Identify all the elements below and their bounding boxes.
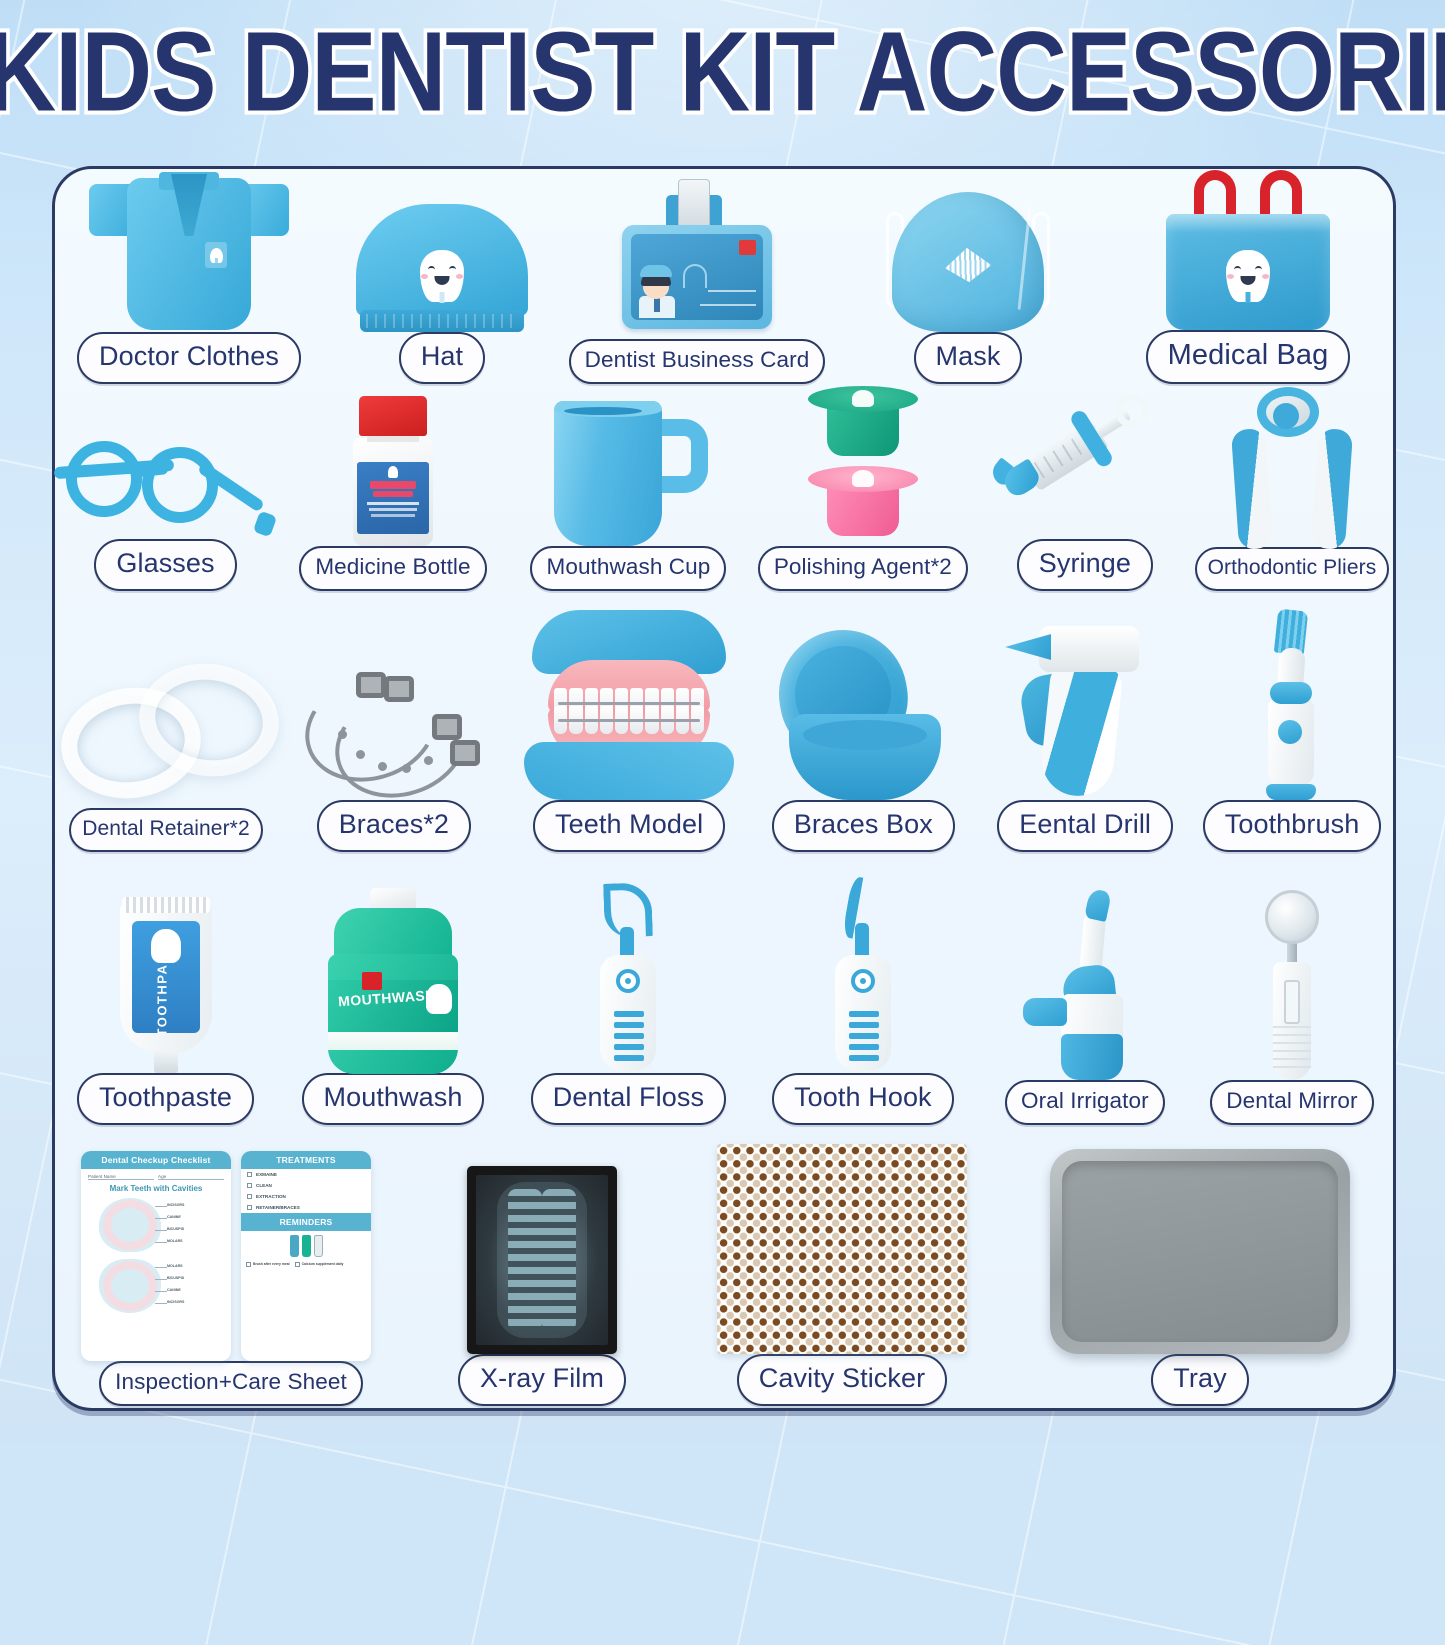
tooth-hook-art xyxy=(747,852,979,1073)
label-tooth-hook: Tooth Hook xyxy=(772,1073,954,1125)
accessory-item-xray-film[interactable]: X-ray Film xyxy=(407,1125,677,1406)
accessory-item-dental-retainer[interactable]: Dental Retainer*2 xyxy=(55,591,277,852)
tooth-hook-icon xyxy=(821,883,905,1073)
medicine-bottle-icon xyxy=(349,396,437,546)
label-dental-mirror: Dental Mirror xyxy=(1210,1080,1373,1126)
label-cavity-sticker: Cavity Sticker xyxy=(737,1354,947,1406)
business-card-art xyxy=(561,171,833,339)
label-tray: Tray xyxy=(1151,1354,1248,1406)
accessory-item-polishing-agent[interactable]: Polishing Agent*2 xyxy=(747,384,979,591)
label-toothpaste: Toothpaste xyxy=(77,1073,254,1125)
label-polishing-agent: Polishing Agent*2 xyxy=(758,546,968,592)
accessory-item-dental-drill[interactable]: Eental Drill xyxy=(979,591,1191,852)
accessory-item-braces[interactable]: Braces*2 xyxy=(277,591,511,852)
checklist-subtitle: Mark Teeth with Cavities xyxy=(81,1184,231,1193)
accessory-item-doctor-clothes[interactable]: Doctor Clothes xyxy=(55,169,323,384)
xray-film-art xyxy=(407,1126,677,1354)
dental-floss-pick-icon xyxy=(586,883,670,1073)
face-mask-icon xyxy=(892,192,1044,332)
label-hat: Hat xyxy=(399,332,485,384)
care-sheets-icon: Dental Checkup Checklist Patient Name Ag… xyxy=(81,1151,381,1361)
label-medicine-bottle: Medicine Bottle xyxy=(299,546,486,592)
accessory-row-5: Dental Checkup Checklist Patient Name Ag… xyxy=(55,1125,1393,1406)
accessories-panel: Doctor Clothes Hat xyxy=(52,166,1396,1411)
dental-drill-art xyxy=(979,591,1191,800)
page-title: KIDS DENTIST KIT ACCESSORIES xyxy=(0,8,1445,138)
pliers-art xyxy=(1191,385,1393,547)
business-card-icon xyxy=(622,179,772,339)
teeth-model-art xyxy=(511,591,748,800)
reminder-item: Calcium supplement daily xyxy=(302,1262,344,1266)
toothpaste-tube-icon: TOOTHPASTE xyxy=(114,893,218,1073)
treatment-item: EXTRACTION xyxy=(256,1194,286,1199)
treatments-sheet: TREATMENTS EXMAINE CLEAN EXTRACTION RETA… xyxy=(241,1151,371,1361)
doctor-clothes-icon xyxy=(89,172,289,332)
accessory-item-glasses[interactable]: Glasses xyxy=(55,384,276,591)
polishing-agent-icon xyxy=(798,386,928,546)
accessory-item-orthodontic-pliers[interactable]: Orthodontic Pliers xyxy=(1191,384,1393,591)
doctor-clothes-art xyxy=(55,169,323,332)
accessory-item-dental-mirror[interactable]: Dental Mirror xyxy=(1191,852,1393,1125)
eyeglasses-icon xyxy=(56,429,276,539)
orthodontic-pliers-icon xyxy=(1227,387,1357,547)
arch-label: INCISORS xyxy=(167,1203,184,1207)
treatment-item: RETAINER/BRACES xyxy=(256,1205,300,1210)
accessory-item-medical-bag[interactable]: Medical Bag xyxy=(1103,169,1393,384)
accessory-item-mouthwash[interactable]: MOUTHWASH Mouthwash xyxy=(276,852,510,1125)
polishing-agent-art xyxy=(747,384,979,546)
hat-art xyxy=(323,169,561,332)
accessory-item-medicine-bottle[interactable]: Medicine Bottle xyxy=(276,384,510,591)
label-business-card: Dentist Business Card xyxy=(569,339,826,385)
arch-label: BICUSPID xyxy=(167,1227,184,1231)
arch-label: BICUSPID xyxy=(167,1276,184,1280)
accessory-item-cavity-sticker[interactable]: Cavity Sticker xyxy=(677,1125,1007,1406)
lower-arch-diagram: MOLARS BICUSPID CANINE INCISORS xyxy=(97,1257,215,1315)
label-mask: Mask xyxy=(914,332,1023,384)
label-braces: Braces*2 xyxy=(317,800,471,852)
label-toothbrush: Toothbrush xyxy=(1203,800,1382,852)
accessory-item-braces-box[interactable]: Braces Box xyxy=(747,591,979,852)
medicine-bottle-art xyxy=(276,384,510,546)
oral-irrigator-art xyxy=(979,858,1191,1080)
syringe-icon xyxy=(973,355,1197,572)
tray-art xyxy=(1007,1126,1393,1354)
checklist-age-field: Age xyxy=(158,1174,224,1180)
cavity-sticker-art xyxy=(677,1126,1007,1354)
braces-icon xyxy=(304,670,484,800)
care-sheet-art: Dental Checkup Checklist Patient Name Ag… xyxy=(55,1133,407,1361)
teeth-model-icon xyxy=(524,610,734,800)
accessory-item-syringe[interactable]: Syringe xyxy=(979,384,1191,591)
treatment-item: EXMAINE xyxy=(256,1172,277,1177)
accessory-item-toothbrush[interactable]: Toothbrush xyxy=(1191,591,1393,852)
accessory-item-business-card[interactable]: Dentist Business Card xyxy=(561,169,833,384)
label-xray-film: X-ray Film xyxy=(458,1354,626,1406)
reminder-icons xyxy=(241,1231,371,1259)
braces-art xyxy=(277,591,511,800)
checklist-patient-field: Patient Name xyxy=(88,1174,154,1180)
label-dental-retainer: Dental Retainer*2 xyxy=(69,808,262,852)
accessory-row-2: Glasses Medicine Bottle Mouthwash Cup xyxy=(55,384,1393,591)
accessory-row-4: TOOTHPASTE Toothpaste MOUTHWASH Mouthwas… xyxy=(55,852,1393,1125)
glasses-art xyxy=(55,384,276,539)
mouthwash-art: MOUTHWASH xyxy=(276,852,510,1073)
instrument-tray-icon xyxy=(1050,1149,1350,1354)
braces-box-icon xyxy=(773,630,953,800)
label-mouthwash: Mouthwash xyxy=(302,1073,485,1125)
label-medical-bag: Medical Bag xyxy=(1146,330,1351,384)
treatment-item: CLEAN xyxy=(256,1183,272,1188)
accessory-item-oral-irrigator[interactable]: Oral Irrigator xyxy=(979,852,1191,1125)
accessory-item-mouthwash-cup[interactable]: Mouthwash Cup xyxy=(510,384,747,591)
accessory-item-care-sheet[interactable]: Dental Checkup Checklist Patient Name Ag… xyxy=(55,1125,407,1406)
accessory-item-tray[interactable]: Tray xyxy=(1007,1125,1393,1406)
toothbrush-icon xyxy=(1252,610,1332,800)
toothpaste-label-text: TOOTHPASTE xyxy=(154,937,169,1034)
cavity-sticker-icon xyxy=(717,1144,967,1354)
label-mouthwash-cup: Mouthwash Cup xyxy=(530,546,726,592)
arch-label: MOLARS xyxy=(167,1239,183,1243)
mouthwash-bottle-icon: MOUTHWASH xyxy=(318,888,468,1073)
dental-drill-icon xyxy=(1005,620,1165,800)
dental-retainer-icon xyxy=(55,658,277,808)
arch-label: CANINE xyxy=(167,1215,181,1219)
upper-arch-diagram: INCISORS CANINE BICUSPID MOLARS xyxy=(97,1196,215,1254)
xray-film-icon xyxy=(467,1166,617,1354)
toothbrush-art xyxy=(1191,591,1393,800)
dental-mirror-art xyxy=(1191,858,1393,1080)
dental-mirror-icon xyxy=(1253,890,1331,1080)
label-oral-irrigator: Oral Irrigator xyxy=(1005,1080,1165,1126)
accessory-item-dental-floss[interactable]: Dental Floss xyxy=(510,852,747,1125)
reminder-item: Brush after every meal xyxy=(253,1262,290,1266)
arch-label: INCISORS xyxy=(167,1300,184,1304)
accessory-item-toothpaste[interactable]: TOOTHPASTE Toothpaste xyxy=(55,852,276,1125)
checklist-header: Dental Checkup Checklist xyxy=(81,1151,231,1169)
arch-label: CANINE xyxy=(167,1288,181,1292)
arch-label: MOLARS xyxy=(167,1264,183,1268)
reminders-header: REMINDERS xyxy=(241,1213,371,1231)
medical-bag-icon xyxy=(1160,170,1336,330)
label-orthodontic-pliers: Orthodontic Pliers xyxy=(1195,547,1390,591)
label-braces-box: Braces Box xyxy=(772,800,955,852)
accessory-item-tooth-hook[interactable]: Tooth Hook xyxy=(747,852,979,1125)
label-dental-drill: Eental Drill xyxy=(997,800,1173,852)
accessory-item-teeth-model[interactable]: Teeth Model xyxy=(511,591,748,852)
syringe-art xyxy=(979,384,1191,539)
toothpaste-art: TOOTHPASTE xyxy=(55,852,276,1073)
label-doctor-clothes: Doctor Clothes xyxy=(77,332,301,384)
label-dental-floss: Dental Floss xyxy=(531,1073,726,1125)
accessory-row-1: Doctor Clothes Hat xyxy=(55,169,1393,384)
medical-bag-art xyxy=(1103,169,1393,330)
oral-irrigator-icon xyxy=(1015,890,1155,1080)
label-glasses: Glasses xyxy=(94,539,236,591)
braces-box-art xyxy=(747,591,979,800)
mouthwash-cup-art xyxy=(510,384,747,546)
accessory-item-mask[interactable]: Mask xyxy=(833,169,1103,384)
label-teeth-model: Teeth Model xyxy=(533,800,725,852)
checkup-checklist-sheet: Dental Checkup Checklist Patient Name Ag… xyxy=(81,1151,231,1361)
mask-art xyxy=(833,169,1103,332)
retainer-art xyxy=(55,595,277,808)
label-care-sheet: Inspection+Care Sheet xyxy=(99,1361,363,1407)
dental-floss-art xyxy=(510,852,747,1073)
accessory-row-3: Dental Retainer*2 Braces*2 xyxy=(55,591,1393,852)
treatments-header: TREATMENTS xyxy=(241,1151,371,1169)
surgical-hat-icon xyxy=(356,204,528,332)
accessory-item-hat[interactable]: Hat xyxy=(323,169,561,384)
mouthwash-cup-icon xyxy=(548,401,708,546)
